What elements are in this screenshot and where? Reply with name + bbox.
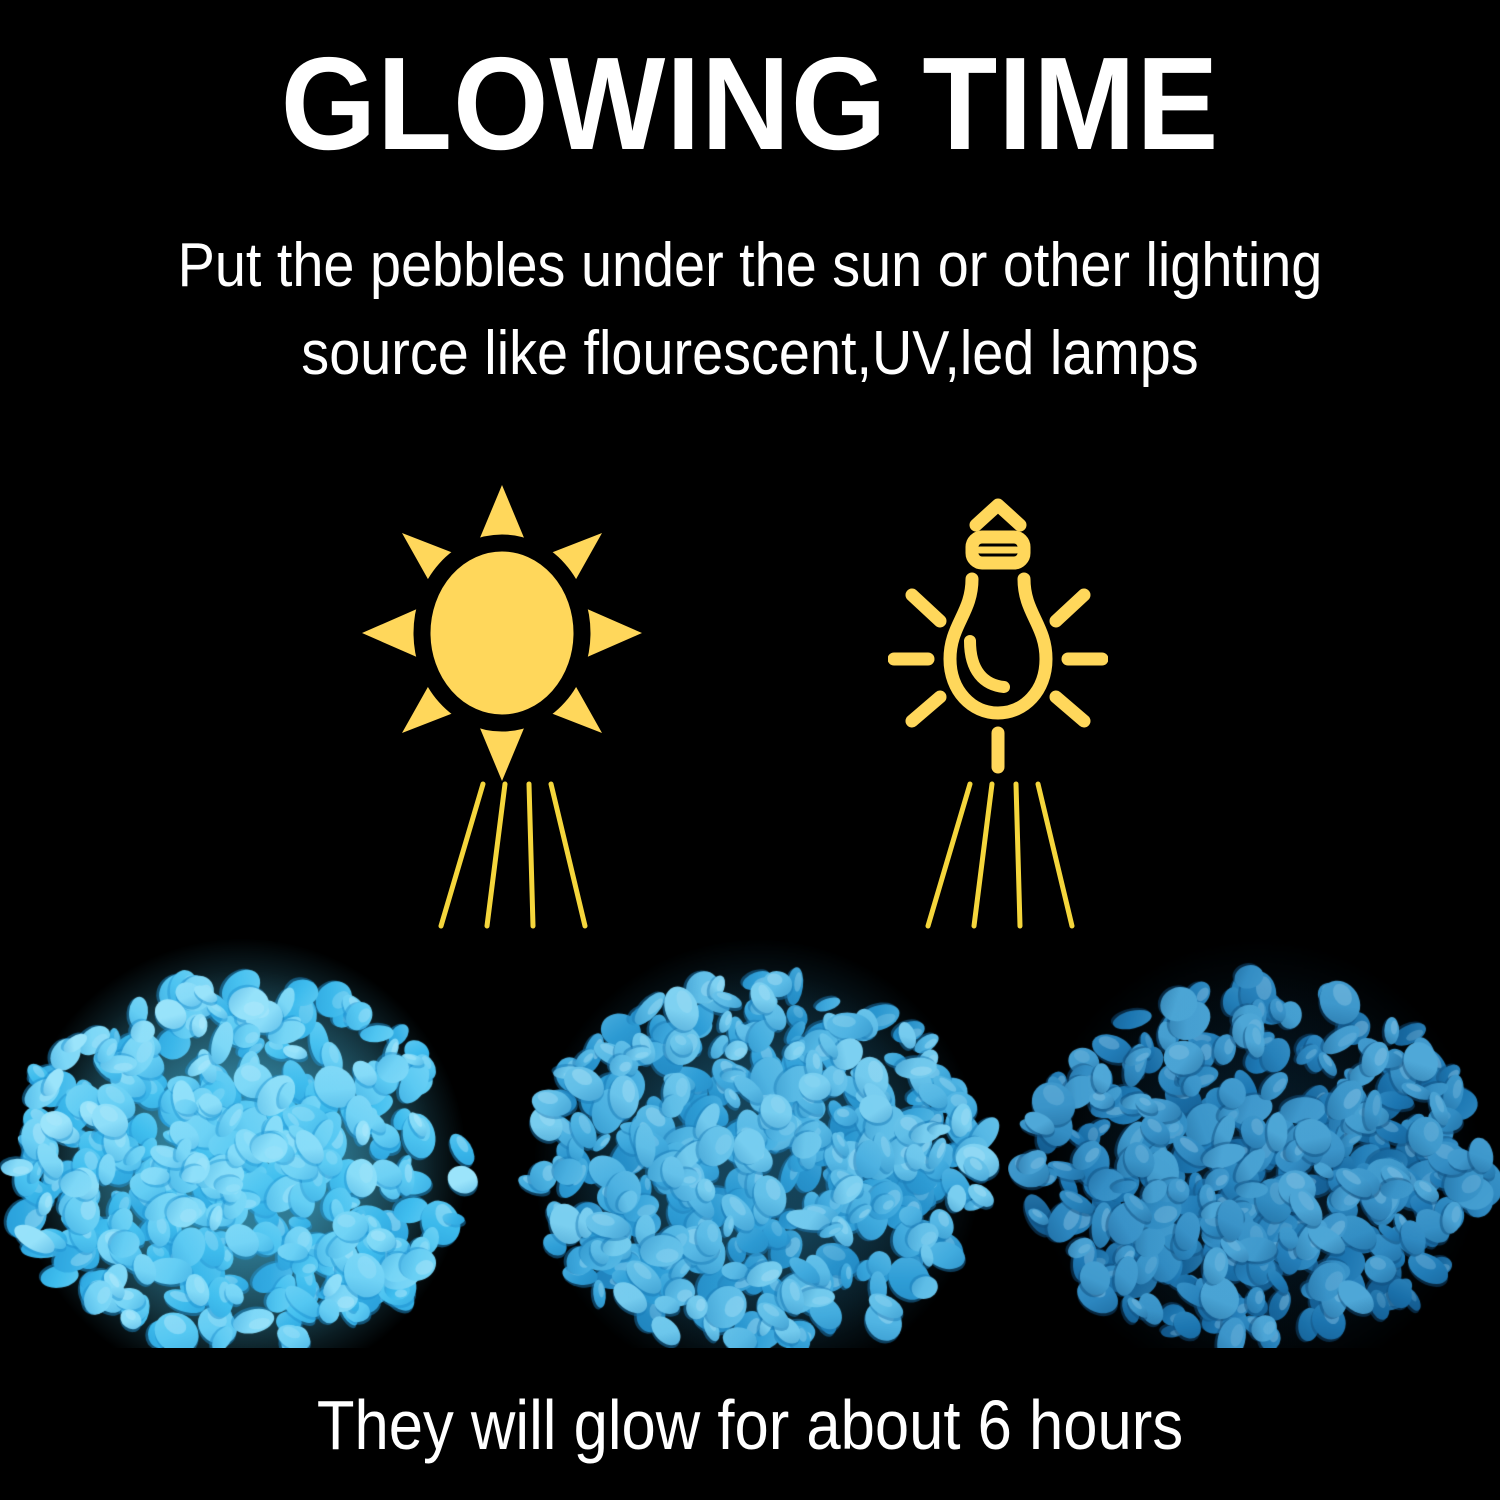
light-bulb-icon — [888, 495, 1108, 775]
light-beam-lines-sun — [425, 780, 605, 930]
promo-image-canvas: GLOWING TIME Put the pebbles under the s… — [0, 0, 1500, 1500]
pebble-pile-medium — [508, 928, 1008, 1348]
glow-duration-note: They will glow for about 6 hours — [90, 1386, 1410, 1464]
subtitle-line-1: Put the pebbles under the sun or other l… — [75, 222, 1425, 310]
light-beam-lines-bulb — [912, 780, 1092, 930]
sun-icon — [362, 485, 642, 785]
page-subtitle: Put the pebbles under the sun or other l… — [75, 222, 1425, 398]
subtitle-line-2: source like flourescent,UV,led lamps — [75, 310, 1425, 398]
pebble-pile-brightest — [0, 928, 492, 1348]
page-title: GLOWING TIME — [53, 38, 1448, 170]
pebble-pile-dim — [1008, 928, 1500, 1348]
